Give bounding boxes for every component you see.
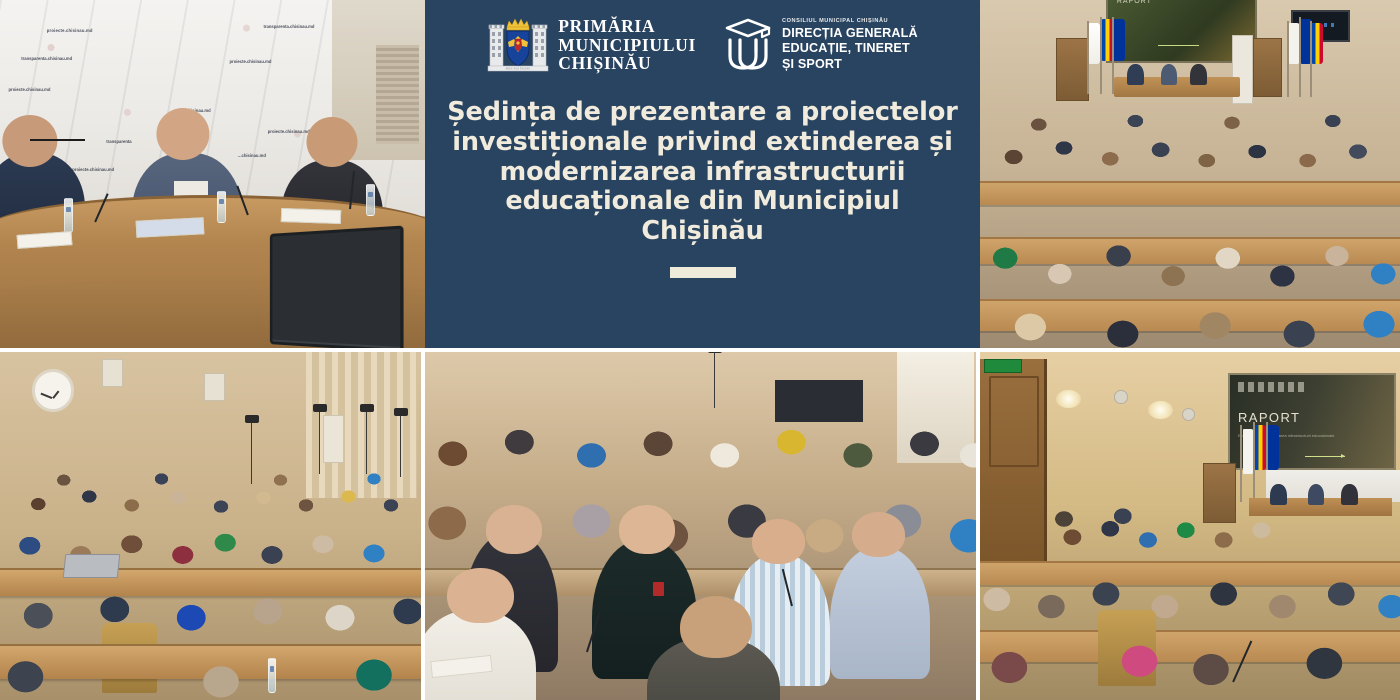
attendee-floral <box>830 547 930 679</box>
chisinau-coat-of-arms-icon: PRIN NOI ÎNȘINE <box>487 16 549 74</box>
dgets-line-1: DIRECȚIA GENERALĂ <box>782 26 918 41</box>
primaria-logo: PRIN NOI ÎNȘINE PRIMĂRIA MUNICIPIULUI CH… <box>487 16 696 74</box>
primaria-logo-text: PRIMĂRIA MUNICIPIULUI CHIȘINĂU <box>558 17 696 73</box>
logo-row: PRIN NOI ÎNȘINE PRIMĂRIA MUNICIPIULUI CH… <box>425 16 980 74</box>
projection-screen-arrow <box>1158 45 1199 46</box>
projection-screen-title: RAPORT <box>1238 410 1300 425</box>
official-right-head <box>306 117 357 167</box>
panelist <box>1190 64 1207 85</box>
attendee-foreground-center-head <box>680 596 752 659</box>
banner-title-line-2: investiționale privind extinderea și <box>447 128 958 158</box>
collage-canvas: proiecte.chisinau.md transparenta.chisin… <box>0 0 1400 700</box>
flag-eu <box>1268 425 1279 470</box>
water-bottle <box>217 191 226 222</box>
attendee-plaid-head <box>752 519 805 564</box>
backdrop-url-text: proiecte.chisinau.md <box>72 167 114 172</box>
display-cabinet <box>1253 38 1282 97</box>
collage-gutter-vertical-left <box>421 348 425 700</box>
official-center-head <box>156 108 209 160</box>
photo-presidium-panel: proiecte.chisinau.md transparenta.chisin… <box>0 0 425 348</box>
flag-eu <box>1114 19 1125 61</box>
flag-chisinau <box>1289 23 1300 65</box>
presidium-monitor <box>269 225 403 348</box>
dgets-logo: CONSILIUL MUNICIPAL CHIȘINĂU DIRECȚIA GE… <box>722 18 918 72</box>
display-cabinet <box>1056 38 1090 101</box>
banner-title-line-3: modernizarea infrastructurii <box>447 158 958 188</box>
ceiling-lamp <box>1148 401 1173 419</box>
collage-gutter-vertical-right <box>976 348 980 700</box>
backdrop-url-text: ...chisinau.md <box>238 153 266 158</box>
water-bottle <box>366 184 375 215</box>
banner-panel: PRIN NOI ÎNȘINE PRIMĂRIA MUNICIPIULUI CH… <box>425 0 980 348</box>
backdrop-url-text: transparenta <box>106 139 131 144</box>
backdrop-url-text: transparenta.chisinau.md <box>264 24 315 29</box>
primaria-line-2: MUNICIPIULUI <box>558 36 696 55</box>
flag-moldova <box>1102 19 1113 61</box>
dgets-line-3: ȘI SPORT <box>782 57 918 72</box>
audience-left-scene <box>0 352 425 700</box>
graduation-cap-monogram-icon <box>722 18 774 72</box>
attendee-foreground-head <box>447 568 514 624</box>
primaria-line-3: CHIȘINĂU <box>558 54 696 73</box>
document-papers <box>280 208 340 224</box>
projection-screen-logos <box>1238 382 1304 391</box>
wall-speaker <box>102 359 123 387</box>
collage-gutter-horizontal <box>0 348 1400 352</box>
ribbon-badge <box>653 582 664 596</box>
banner-title-line-1: Ședința de prezentare a proiectelor <box>447 98 958 128</box>
wall-speaker <box>204 373 225 401</box>
audience-front-row-closest <box>0 623 425 700</box>
audience-front-rows <box>980 603 1400 700</box>
backdrop-url-text: proiecte.chisinau.md <box>47 28 93 33</box>
air-conditioner <box>323 415 344 464</box>
flag-moldova <box>1255 425 1266 470</box>
water-bottle <box>64 198 73 233</box>
backdrop-url-text: proiecte.chisinau.md <box>268 129 310 134</box>
dgets-eyebrow: CONSILIUL MUNICIPAL CHIȘINĂU <box>782 18 918 24</box>
exit-sign-icon <box>984 359 1022 373</box>
backdrop-url-text: transparenta.chisinau.md <box>21 56 72 61</box>
attendee-head <box>486 505 542 554</box>
dgets-logo-text: CONSILIUL MUNICIPAL CHIȘINĂU DIRECȚIA GE… <box>782 18 918 71</box>
wall-clock-icon <box>32 369 75 412</box>
panelist <box>1127 64 1144 85</box>
projection-arrow-icon <box>1305 456 1344 457</box>
attendee-center-head <box>619 505 675 554</box>
security-camera-icon <box>1114 390 1127 403</box>
presidium-scene: proiecte.chisinau.md transparenta.chisin… <box>0 0 425 348</box>
water-bottle <box>268 658 276 693</box>
security-camera-icon <box>1182 408 1195 421</box>
projection-screen-title: RAPORT <box>1117 0 1152 5</box>
backdrop-url-text: proiecte.chisinau.md <box>230 59 272 64</box>
banner-title-line-4: educaționale din Municipiul Chișinău <box>447 187 958 247</box>
ceiling-lamp <box>1056 390 1081 408</box>
audience-crowd <box>980 94 1400 184</box>
audience-closeup-scene <box>425 352 980 700</box>
flag-chisinau <box>1089 23 1100 65</box>
audience-crowd <box>980 285 1400 348</box>
panelist <box>1161 64 1178 85</box>
svg-text:PRIN NOI ÎNȘINE: PRIN NOI ÎNȘINE <box>506 68 531 71</box>
primaria-line-1: PRIMĂRIA <box>558 17 696 36</box>
photo-hall-wide: RAPORT Extinderea și modernizarea infras… <box>980 352 1400 700</box>
hall-overview-scene: RAPORT <box>980 0 1400 348</box>
backdrop-url-text: proiecte.chisinau.md <box>9 87 51 92</box>
dgets-line-2: EDUCAȚIE, TINERET <box>782 41 918 56</box>
hall-wide-scene: RAPORT Extinderea și modernizarea infras… <box>980 352 1400 700</box>
photo-audience-closeup <box>425 352 980 700</box>
attendee-floral-head <box>852 512 905 557</box>
flag-chisinau <box>1243 429 1254 474</box>
banner-title: Ședința de prezentare a proiectelor inve… <box>447 98 958 247</box>
eyeglasses-icon <box>30 139 85 149</box>
photo-hall-overview: RAPORT <box>980 0 1400 348</box>
title-divider <box>670 267 736 278</box>
flag-moldova <box>1312 23 1323 65</box>
photo-audience-left <box>0 352 425 700</box>
